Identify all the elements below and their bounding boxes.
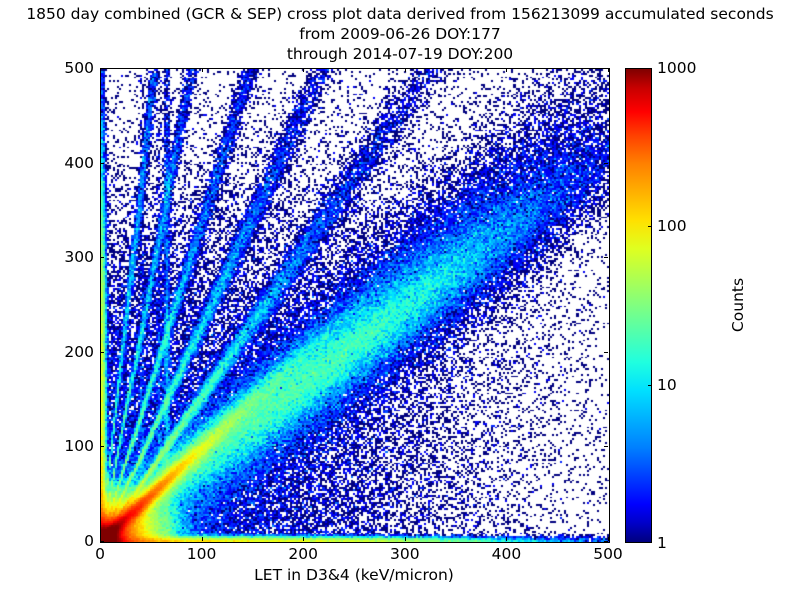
x-tick-mark (303, 537, 304, 541)
x-tick-label: 100 (187, 545, 217, 563)
x-tick-mark (506, 537, 507, 541)
x-tick-label: 0 (95, 545, 105, 563)
x-tick-mark-top (303, 68, 304, 72)
y-tick-label: 400 (64, 154, 94, 172)
y-tick-mark (100, 68, 104, 69)
colorbar-container (625, 68, 652, 543)
x-tick-mark (405, 537, 406, 541)
colorbar-tick-mark (648, 385, 652, 386)
y-tick-label: 100 (64, 437, 94, 455)
title-line-1: 1850 day combined (GCR & SEP) cross plot… (0, 4, 800, 24)
colorbar-tick-label: 1 (657, 534, 667, 552)
y-tick-mark-right (604, 163, 608, 164)
y-tick-mark (100, 257, 104, 258)
plot-axes (100, 68, 610, 543)
y-tick-mark-right (604, 541, 608, 542)
x-axis-label: LET in D3&4 (keV/micron) (0, 566, 708, 584)
x-tick-mark-top (405, 68, 406, 72)
y-tick-label: 500 (64, 59, 94, 77)
y-tick-label: 300 (64, 248, 94, 266)
colorbar-gradient (625, 68, 652, 543)
plot-title: 1850 day combined (GCR & SEP) cross plot… (0, 4, 800, 64)
colorbar-tick-label: 100 (657, 217, 687, 235)
x-tick-label: 300 (390, 545, 420, 563)
y-tick-label: 0 (84, 532, 94, 550)
x-tick-mark-top (202, 68, 203, 72)
density-heatmap-canvas (101, 69, 609, 542)
x-tick-mark (202, 537, 203, 541)
x-tick-mark-top (608, 68, 609, 72)
y-tick-mark (100, 352, 104, 353)
title-line-2: from 2009-06-26 DOY:177 (0, 24, 800, 44)
y-tick-mark (100, 446, 104, 447)
colorbar-label: Counts (729, 155, 749, 455)
colorbar-tick-label: 10 (657, 376, 677, 394)
x-tick-mark (608, 537, 609, 541)
colorbar-tick-mark (648, 226, 652, 227)
y-tick-mark-right (604, 446, 608, 447)
x-tick-label: 200 (288, 545, 318, 563)
y-tick-mark-right (604, 68, 608, 69)
x-tick-label: 500 (593, 545, 623, 563)
y-tick-mark (100, 163, 104, 164)
colorbar-tick-label: 1000 (657, 59, 696, 77)
y-tick-mark (100, 541, 104, 542)
x-tick-label: 400 (492, 545, 522, 563)
y-tick-mark-right (604, 352, 608, 353)
y-tick-mark-right (604, 257, 608, 258)
figure-root: 1850 day combined (GCR & SEP) cross plot… (0, 0, 800, 600)
x-tick-mark-top (506, 68, 507, 72)
y-tick-label: 200 (64, 343, 94, 361)
